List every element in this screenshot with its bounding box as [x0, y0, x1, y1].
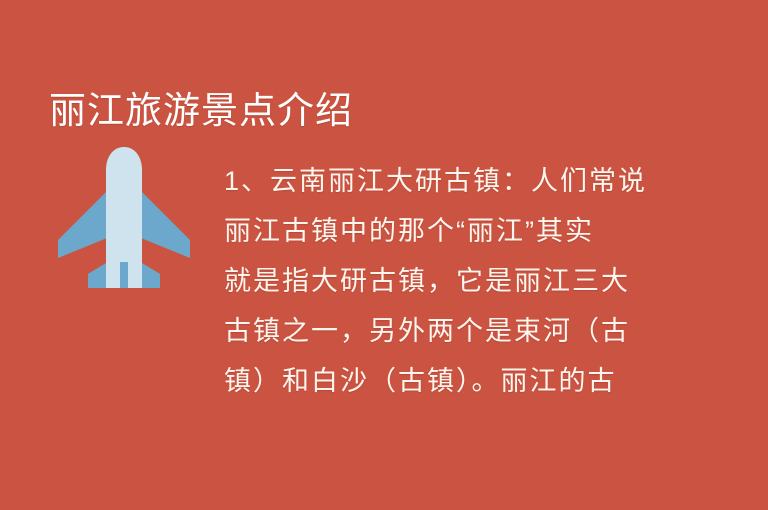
airplane-right-wing-shape — [136, 186, 190, 258]
paragraph-line: 古镇之一，另外两个是束河（古 — [224, 306, 660, 356]
paragraph-line: 丽江古镇中的那个“丽江”其实 — [224, 206, 660, 256]
paragraph-line: 1、云南丽江大研古镇：人们常说 — [224, 156, 660, 206]
airplane-icon — [56, 144, 192, 290]
page-title: 丽江旅游景点介绍 — [49, 89, 353, 133]
airplane-tail-fin-shape — [120, 262, 128, 288]
paragraph-line: 镇）和白沙（古镇）。丽江的古 — [224, 356, 660, 406]
tourism-info-card: 丽江旅游景点介绍 1、云南丽江大研古镇：人们常说 丽江古镇中的那个“丽江”其实 … — [0, 0, 768, 510]
airplane-left-wing-shape — [58, 186, 112, 258]
description-paragraph: 1、云南丽江大研古镇：人们常说 丽江古镇中的那个“丽江”其实 就是指大研古镇，它… — [224, 156, 660, 406]
paragraph-line: 就是指大研古镇，它是丽江三大 — [224, 256, 660, 306]
